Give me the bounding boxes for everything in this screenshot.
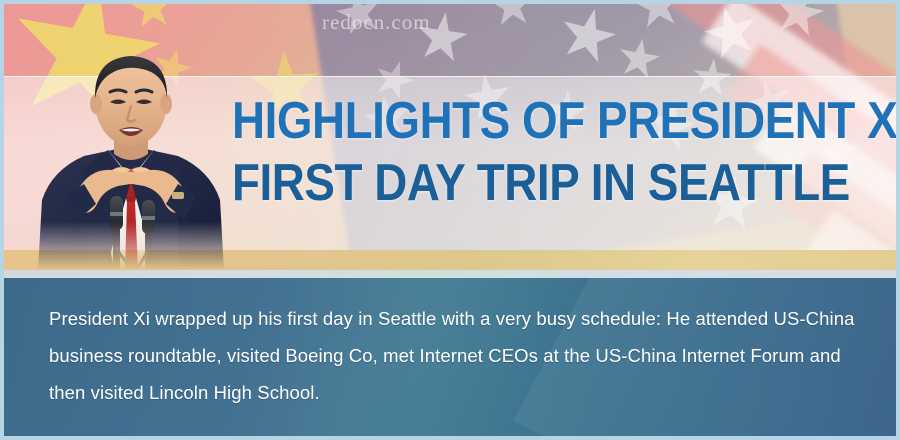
headline: HIGHLIGHTS OF PRESIDENT XI’S FIRST DAY T… <box>232 90 882 214</box>
watermark-text: redocn.com <box>322 10 431 35</box>
panel-divider <box>4 270 896 278</box>
headline-line-2: FIRST DAY TRIP IN SEATTLE <box>232 152 804 214</box>
headline-line-1: HIGHLIGHTS OF PRESIDENT XI’S <box>232 90 804 152</box>
president-xi-portrait <box>26 50 236 270</box>
summary-panel: President Xi wrapped up his first day in… <box>4 278 896 436</box>
infographic-banner: redocn.com <box>0 0 900 440</box>
summary-text: President Xi wrapped up his first day in… <box>49 300 861 411</box>
